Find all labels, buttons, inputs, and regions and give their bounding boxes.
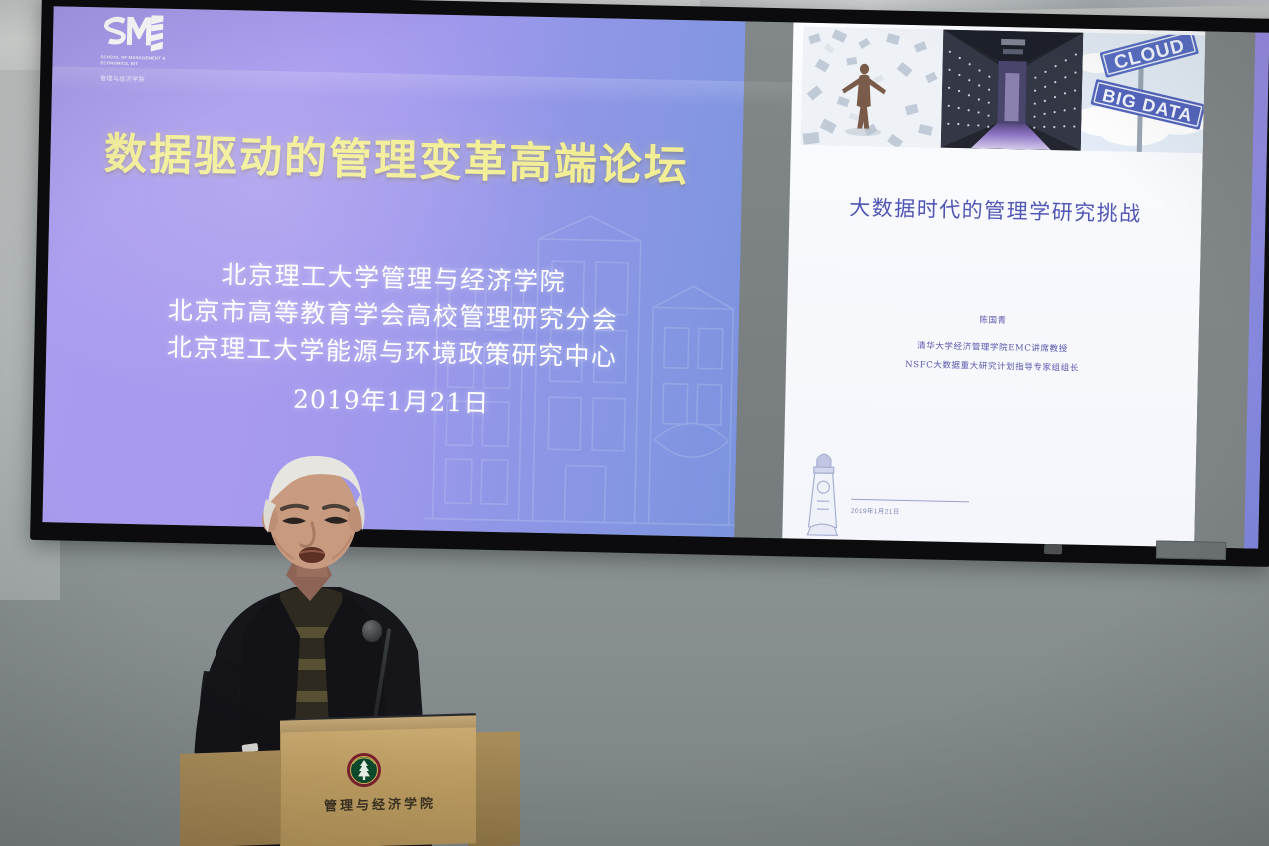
- lectern-left-side: [180, 750, 284, 846]
- right-projected-slide: CLOUD BIG DATA 大数据时代的管理学研究挑战 陈国青: [782, 22, 1205, 547]
- keynote-affiliations: 清华大学经济管理学院EMC讲席教授 NSFC大数据重大研究计划指导专家组组长: [786, 334, 1199, 381]
- screen-bezel-plate: [1156, 540, 1226, 560]
- data-center-servers-image: [941, 30, 1084, 151]
- sme-logo-chinese: 管理与经济学院: [100, 73, 172, 84]
- forum-title: 数据驱动的管理变革高端论坛: [50, 118, 743, 195]
- keynote-presenter: 陈国青: [787, 309, 1199, 330]
- bit-school-emblem: [346, 752, 382, 788]
- microphone-head: [362, 620, 382, 642]
- screen-gap-sheen: [744, 81, 793, 108]
- forum-date: 2019年1月21日: [45, 374, 738, 425]
- slide-banner-images: CLOUD BIG DATA: [801, 27, 1205, 154]
- person-with-flying-papers-image: [801, 27, 944, 148]
- street-signs-image: CLOUD BIG DATA: [1081, 33, 1206, 154]
- footer-rule: [851, 499, 969, 503]
- tsinghua-monument-mark: [800, 443, 846, 540]
- sme-logo-english: SCHOOL OF MANAGEMENT & ECONOMICS, BIT: [100, 54, 166, 67]
- screen-right-edge: [1194, 31, 1269, 548]
- lectern: 管理与经济学院: [180, 700, 520, 846]
- screen-bezel-notch: [1044, 544, 1062, 554]
- keynote-date: 2019年1月21日: [851, 505, 1031, 519]
- forum-organizers: 北京理工大学管理与经济学院 北京市高等教育学会高校管理研究分会 北京理工大学能源…: [46, 252, 740, 378]
- lecture-hall-scene: SCHOOL OF MANAGEMENT & ECONOMICS, BIT 管理…: [0, 0, 1269, 846]
- keynote-title: 大数据时代的管理学研究挑战: [789, 190, 1202, 229]
